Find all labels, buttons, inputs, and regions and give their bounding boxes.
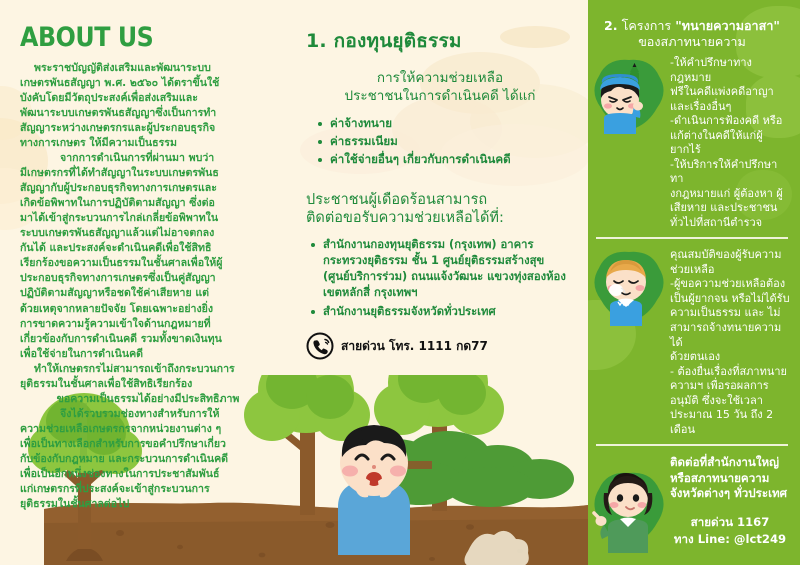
contact-line: ติดต่อที่สำนักงานใหญ่ (670, 455, 790, 471)
line-id: ทาง Line: @lct249 (670, 531, 790, 548)
eligibility-line: -ผู้ขอความช่วยเหลือต้อง (670, 277, 790, 292)
about-line: จากการดำเนินการที่ผ่านมา พบว่า (20, 151, 276, 166)
contact-intro: ประชาชนผู้เดือดร้อนสามารถ ติดต่อขอรับควา… (306, 191, 574, 227)
service-line: ฟรีในคดีแพ่งคดีอาญา (670, 85, 790, 100)
list-item: สำนักงานกองทุนยุติธรรม (กรุงเทพ) อาคารกร… (310, 237, 574, 301)
eligibility-line: ความฯ เพื่อรอผลการ (670, 379, 790, 394)
about-line: การขาดความรู้ความเข้าใจด้านกฎหมายที่ (20, 317, 276, 332)
about-line: เรียกร้องขอความเป็นธรรมในชั้นศาลเพื่อให้… (20, 256, 276, 271)
brochure-page: ABOUT US พระราชบัญญัติส่งเสริมและพัฒนาระ… (0, 0, 800, 565)
list-item: ค่าจ้างทนาย (316, 115, 574, 133)
about-line: เกษตรพันธสัญญา พ.ศ. ๒๕๖๐ ได้ตราขึ้นใช้ (20, 76, 276, 91)
section-2-title: 2. โครงการ "ทนายความอาสา" ของสภาทนายความ (594, 18, 790, 50)
hotline-number: สายด่วน โทร. 1111 กด77 (341, 337, 488, 356)
about-line: เพื่อใช้จ่ายในการดำเนินคดี (20, 347, 276, 362)
about-line: กับข้องกับกฎหมาย และกระบวนการดำเนินคดี (20, 452, 276, 467)
about-line: บังคับโดยมีวัตถุประสงค์เพื่อส่งเสริมและ (20, 91, 276, 106)
contact-text: ติดต่อที่สำนักงานใหญ่ หรือสภาทนายความ จั… (670, 455, 790, 548)
about-line: ยุติธรรมในชั้นศาลต่อไป (20, 497, 276, 512)
about-line: กันได้ และประสงค์จะดำเนินคดีเพื่อใช้สิทธ… (20, 241, 276, 256)
section-2-heading-quoted: "ทนายความอาสา" (675, 18, 780, 33)
eligibility-heading-2: ช่วยเหลือ (670, 263, 790, 278)
about-line: จึงได้รวบรวมช่องทางสำหรับการให้ (20, 407, 276, 422)
about-line: ปฏิบัติตามสัญญาหรือชดใช้ค่าเสียหาย แต่ (20, 286, 276, 301)
assistance-items-list: ค่าจ้างทนาย ค่าธรรมเนียม ค่าใช้จ่ายอื่นๆ… (316, 115, 574, 169)
section-eligibility: คุณสมบัติของผู้รับความ ช่วยเหลือ -ผู้ขอค… (594, 248, 790, 437)
list-item: ค่าใช้จ่ายอื่นๆ เกี่ยวกับการดำเนินคดี (316, 151, 574, 169)
about-us-column: ABOUT US พระราชบัญญัติส่งเสริมและพัฒนาระ… (0, 0, 292, 565)
about-line: ทำให้เกษตรกรไม่สามารถเข้าถึงกระบวนการ (20, 362, 276, 377)
eligibility-line: ความเป็นธรรม และ ไม่ (670, 306, 790, 321)
section-2-heading-line-2: ของสภาทนายความ (594, 34, 790, 50)
about-line: สัญญาระหว่างเกษตรกรและผู้ประกอบธุรกิจ (20, 121, 276, 136)
divider-1 (596, 237, 788, 239)
about-line: ขอความเป็นธรรมได้อย่างมีประสิทธิภาพ (20, 392, 276, 407)
service-line: ทั่วไปที่สถานีตำรวจ (670, 216, 790, 231)
lawyer-volunteer-column: 2. โครงการ "ทนายความอาสา" ของสภาทนายความ (588, 0, 800, 565)
eligibility-text: คุณสมบัติของผู้รับความ ช่วยเหลือ -ผู้ขอค… (670, 248, 790, 437)
eligibility-line: ด้วยตนเอง (670, 350, 790, 365)
page-title: ABOUT US (20, 22, 245, 53)
section-1-title: 1. กองทุนยุติธรรม (306, 26, 574, 56)
about-line: พระราชบัญญัติส่งเสริมและพัฒนาระบบ (20, 61, 276, 76)
about-line: เพื่อเป็นทางเลือกสำหรับการขอคำปรึกษาเกี่… (20, 437, 276, 452)
section-1-number: 1. (306, 30, 327, 52)
section-services: -ให้คำปรึกษาทางกฎหมาย ฟรีในคดีแพ่งคดีอาญ… (594, 56, 790, 230)
sleeping-person-icon (590, 248, 668, 334)
section-2-number: 2. (604, 18, 618, 33)
section-1-lead: การให้ความช่วยเหลือ ประชาชนในการดำเนินคด… (306, 70, 574, 105)
about-line: มีเกษตรกรที่ได้ทำสัญญาในระบบเกษตรพันธ (20, 166, 276, 181)
eligibility-line: สามารถจ้างทนายความได้ (670, 321, 790, 350)
justice-fund-column: 1. กองทุนยุติธรรม การให้ความช่วยเหลือ ปร… (292, 0, 588, 565)
service-line: -ดำเนินการฟ้องคดี หรือ (670, 114, 790, 129)
service-line: งกฎหมายแก่ ผู้ต้องหา ผู้ (670, 187, 790, 202)
section-contact: ติดต่อที่สำนักงานใหญ่ หรือสภาทนายความ จั… (594, 455, 790, 548)
service-line: -ให้คำปรึกษาทางกฎหมาย (670, 56, 790, 85)
contact-line: จังหวัดต่างๆ ทั่วประเทศ (670, 486, 790, 502)
service-line: และเรื่องอื่นๆ (670, 100, 790, 115)
about-line: ระบบเกษตรพันธสัญญาแล้วแต่ไม่อาจตกลง (20, 226, 276, 241)
services-text: -ให้คำปรึกษาทางกฎหมาย ฟรีในคดีแพ่งคดีอาญ… (670, 56, 790, 230)
about-line: สัญญากับผู้ประกอบธุรกิจทางการเกษตรและ (20, 181, 276, 196)
eligibility-heading-1: คุณสมบัติของผู้รับความ (670, 248, 790, 263)
service-line: แก้ต่างในคดีให้แก่ผู้ยากไร้ (670, 129, 790, 158)
boy-with-pencil-icon (590, 56, 668, 142)
contact-intro-line-2: ติดต่อขอรับความช่วยเหลือได้ที่: (306, 209, 574, 227)
service-line: เสียหาย และประชาชน (670, 201, 790, 216)
about-line: มาได้เข้าสู่กระบวนการไกล่เกลี่ยข้อพิพาทใ… (20, 211, 276, 226)
hotline-block: สายด่วน 1167 ทาง Line: @lct249 (670, 514, 790, 548)
hotline-number-2: สายด่วน 1167 (670, 514, 790, 531)
section-2-heading-prefix: โครงการ (622, 18, 672, 33)
contact-intro-line-1: ประชาชนผู้เดือดร้อนสามารถ (306, 191, 574, 209)
eligibility-line: อนุมัติ ซึ่งจะใช้เวลา (670, 394, 790, 409)
eligibility-line: เป็นผู้ยากจน หรือไม่ได้รับ (670, 292, 790, 307)
about-line: ประกอบธุรกิจทางการเกษตรซึ่งเป็นคู่สัญญา (20, 271, 276, 286)
lead-line-2: ประชาชนในการดำเนินคดี ได้แก่ (306, 88, 574, 106)
about-line: เพื่อเป็นอีกหนึ่งช่องทางในการประชาสัมพัน… (20, 467, 276, 482)
eligibility-line: - ต้องยื่นเรื่องที่สภาทนาย (670, 365, 790, 380)
list-item: สำนักงานยุติธรรมจังหวัดทั่วประเทศ (310, 304, 574, 320)
eligibility-line: ประมาณ 15 วัน ถึง 2 (670, 408, 790, 423)
divider-2 (596, 444, 788, 446)
about-line: ยุติธรรมในชั้นศาลเพื่อใช้สิทธิเรียกร้อง (20, 377, 276, 392)
about-line: ทางการเกษตร ให้มีความเป็นธรรม (20, 136, 276, 151)
service-line: -ให้บริการให้คำปรึกษาทา (670, 158, 790, 187)
lead-line-1: การให้ความช่วยเหลือ (306, 70, 574, 88)
woman-pointing-icon (590, 463, 668, 559)
contact-line: หรือสภาทนายความ (670, 471, 790, 487)
contact-locations-list: สำนักงานกองทุนยุติธรรม (กรุงเทพ) อาคารกร… (310, 237, 574, 320)
about-line: เกี่ยวข้องกับการดำเนินคดี รวมทั้งขาดเงิน… (20, 332, 276, 347)
about-line: พัฒนาระบบเกษตรพันธสัญญาซึ่งเป็นการทำ (20, 106, 276, 121)
hotline-row: สายด่วน โทร. 1111 กด77 (306, 332, 574, 360)
about-us-body: พระราชบัญญัติส่งเสริมและพัฒนาระบบ เกษตรพ… (20, 61, 276, 512)
section-1-heading: กองทุนยุติธรรม (334, 30, 462, 52)
about-line: เกิดข้อพิพาทในการปฏิบัติตามสัญญา ซึ่งต่อ (20, 196, 276, 211)
about-line: แก่เกษตรกรที่ประสงค์จะเข้าสู่กระบวนการ (20, 482, 276, 497)
eligibility-line: เดือน (670, 423, 790, 438)
list-item: ค่าธรรมเนียม (316, 133, 574, 151)
about-line: ความช่วยเหลือเกษตรกรจากหน่วยงานต่าง ๆ (20, 422, 276, 437)
about-line: ด้วยเหตุจากหลายปัจจัย โดยเฉพาะอย่างยิ่ง (20, 302, 276, 317)
phone-in-circle-icon (306, 332, 334, 360)
